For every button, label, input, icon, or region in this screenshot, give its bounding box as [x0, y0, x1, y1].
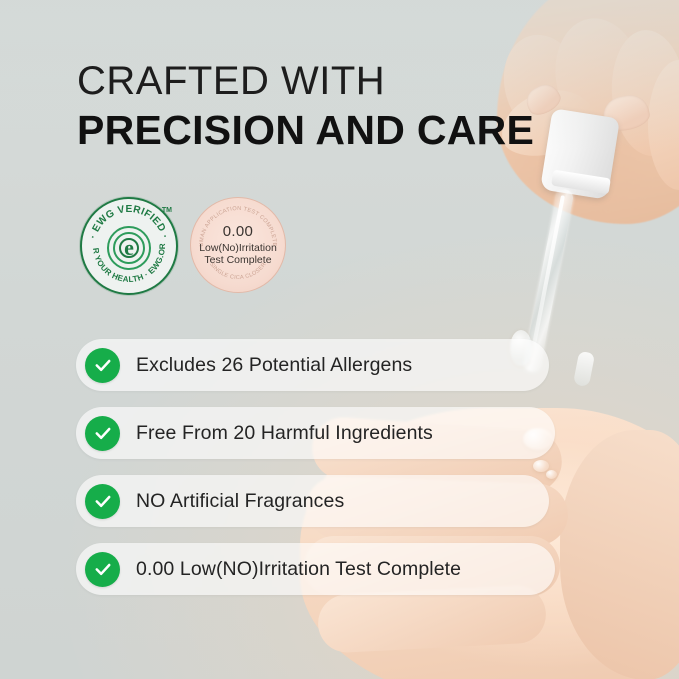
irritation-line-1: Low(No)Irritation	[199, 242, 277, 254]
checklist-item-label: Excludes 26 Potential Allergens	[136, 354, 412, 377]
check-circle-icon	[85, 552, 120, 587]
ewg-logo-icon: e	[107, 226, 151, 270]
trademark-mark: TM	[162, 207, 172, 214]
headline-line-1: CRAFTED WITH	[77, 60, 597, 102]
certification-badges: · EWG VERIFIED · FOR YOUR HEALTH · EWG.O…	[80, 197, 286, 295]
ewg-verified-badge: · EWG VERIFIED · FOR YOUR HEALTH · EWG.O…	[80, 197, 178, 295]
irritation-line-2: Test Complete	[199, 254, 277, 266]
check-circle-icon	[85, 484, 120, 519]
irritation-test-badge: HUMAN APPLICATION TEST COMPLETED SINGLE …	[190, 197, 286, 293]
check-circle-icon	[85, 348, 120, 383]
irritation-score: 0.00	[199, 223, 277, 241]
check-circle-icon	[85, 416, 120, 451]
product-feature-graphic: CRAFTED WITH PRECISION AND CARE · EWG VE…	[0, 0, 679, 679]
headline-line-2: PRECISION AND CARE	[77, 108, 597, 154]
checklist-item: Excludes 26 Potential Allergens	[76, 339, 549, 391]
irritation-badge-content: 0.00 Low(No)Irritation Test Complete	[199, 223, 277, 266]
ewg-logo-letter: e	[124, 237, 134, 259]
checklist-item-label: NO Artificial Fragrances	[136, 490, 344, 513]
checklist-item: Free From 20 Harmful Ingredients	[76, 407, 555, 459]
checklist-item: NO Artificial Fragrances	[76, 475, 549, 527]
checklist-item-label: Free From 20 Harmful Ingredients	[136, 422, 433, 445]
checklist-item-label: 0.00 Low(NO)Irritation Test Complete	[136, 558, 461, 581]
feature-checklist: Excludes 26 Potential Allergens Free Fro…	[76, 339, 555, 611]
checklist-item: 0.00 Low(NO)Irritation Test Complete	[76, 543, 555, 595]
headline-block: CRAFTED WITH PRECISION AND CARE	[77, 60, 597, 154]
